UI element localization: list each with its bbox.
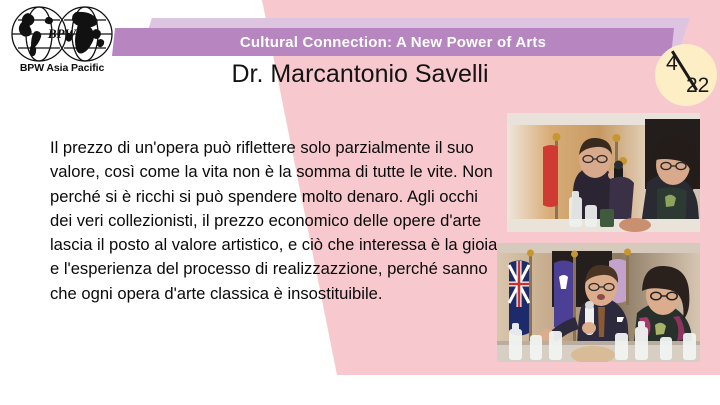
photo-panel-discussion bbox=[497, 243, 700, 362]
bpw-monogram: BPW bbox=[47, 26, 78, 41]
logo-caption: BPW Asia Pacific bbox=[6, 62, 118, 74]
conference-photo-bottom bbox=[497, 243, 700, 362]
photo-panel-speaker-microphone bbox=[507, 113, 700, 232]
slide-number-badge: 4 22 bbox=[655, 44, 717, 106]
banner-title: Cultural Connection: A New Power of Arts bbox=[112, 28, 674, 56]
two-globes-icon: BPW bbox=[6, 3, 118, 65]
presentation-slide: Cultural Connection: A New Power of Arts… bbox=[0, 0, 720, 405]
body-paragraph: Il prezzo di un'opera può riflettere sol… bbox=[50, 136, 502, 306]
slide-number-total: 22 bbox=[686, 74, 709, 98]
conference-photo-top bbox=[507, 113, 700, 232]
